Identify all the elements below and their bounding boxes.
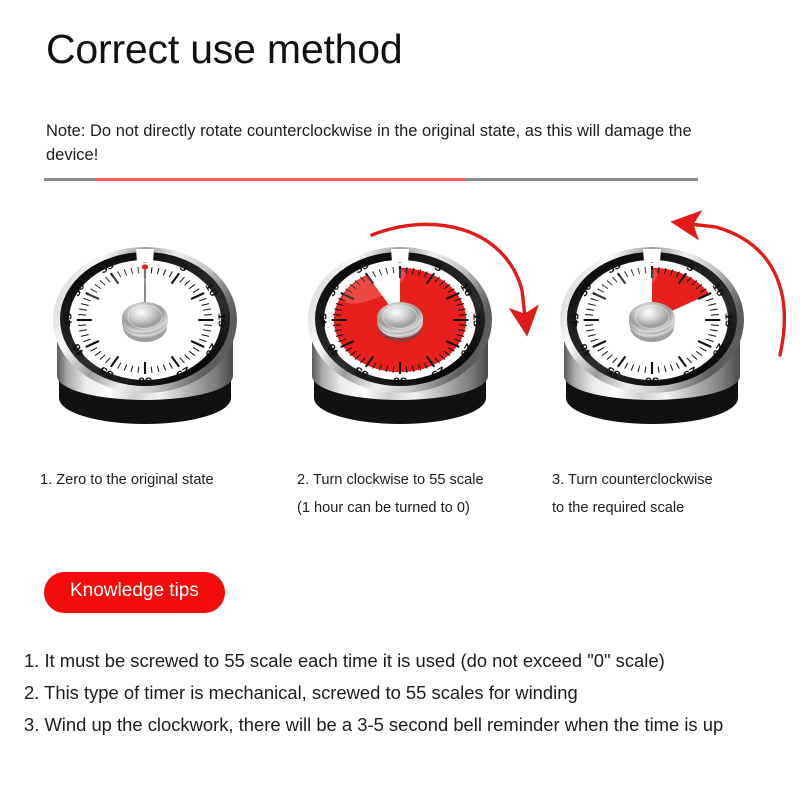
list-item: 3. Wind up the clockwork, there will be …: [24, 710, 792, 740]
svg-text:45: 45: [319, 312, 330, 327]
svg-text:30: 30: [393, 375, 407, 386]
timer-illustration-row: 0510152025303540455055 05101520253035404…: [0, 212, 800, 462]
divider-segment-red: [96, 178, 466, 181]
caption-line: 3. Turn counterclockwise: [552, 466, 787, 494]
svg-text:15: 15: [723, 313, 734, 328]
caption-step-3: 3. Turn counterclockwise to the required…: [552, 466, 787, 523]
knowledge-tips-badge: Knowledge tips: [44, 572, 225, 613]
caption-step-1: 1. Zero to the original state: [40, 466, 270, 494]
timer-set-10: 0510152025303540455055: [527, 212, 777, 462]
svg-text:45: 45: [571, 312, 582, 327]
warning-note: Note: Do not directly rotate countercloc…: [46, 120, 712, 168]
caption-line: (1 hour can be turned to 0): [297, 494, 542, 522]
divider-segment-gray-left: [44, 178, 96, 181]
divider-segment-gray-right: [466, 178, 698, 181]
divider: [44, 178, 698, 181]
caption-line: 2. Turn clockwise to 55 scale: [297, 466, 542, 494]
knowledge-tips-list: 1. It must be screwed to 55 scale each t…: [24, 646, 792, 741]
svg-text:15: 15: [216, 313, 227, 328]
svg-text:45: 45: [64, 312, 75, 327]
timer-zero-state: 0510152025303540455055: [20, 212, 270, 462]
list-item: 2. This type of timer is mechanical, scr…: [24, 678, 792, 708]
page-title: Correct use method: [46, 26, 402, 73]
caption-step-2: 2. Turn clockwise to 55 scale (1 hour ca…: [297, 466, 542, 523]
svg-text:15: 15: [471, 313, 482, 328]
svg-text:30: 30: [645, 375, 659, 386]
list-item: 1. It must be screwed to 55 scale each t…: [24, 646, 792, 676]
caption-line: 1. Zero to the original state: [40, 466, 270, 494]
caption-line: to the required scale: [552, 494, 787, 522]
timer-wound-55: 0510152025303540455055: [275, 212, 525, 462]
instruction-page: Correct use method Note: Do not directly…: [0, 0, 800, 800]
svg-text:30: 30: [138, 375, 152, 386]
